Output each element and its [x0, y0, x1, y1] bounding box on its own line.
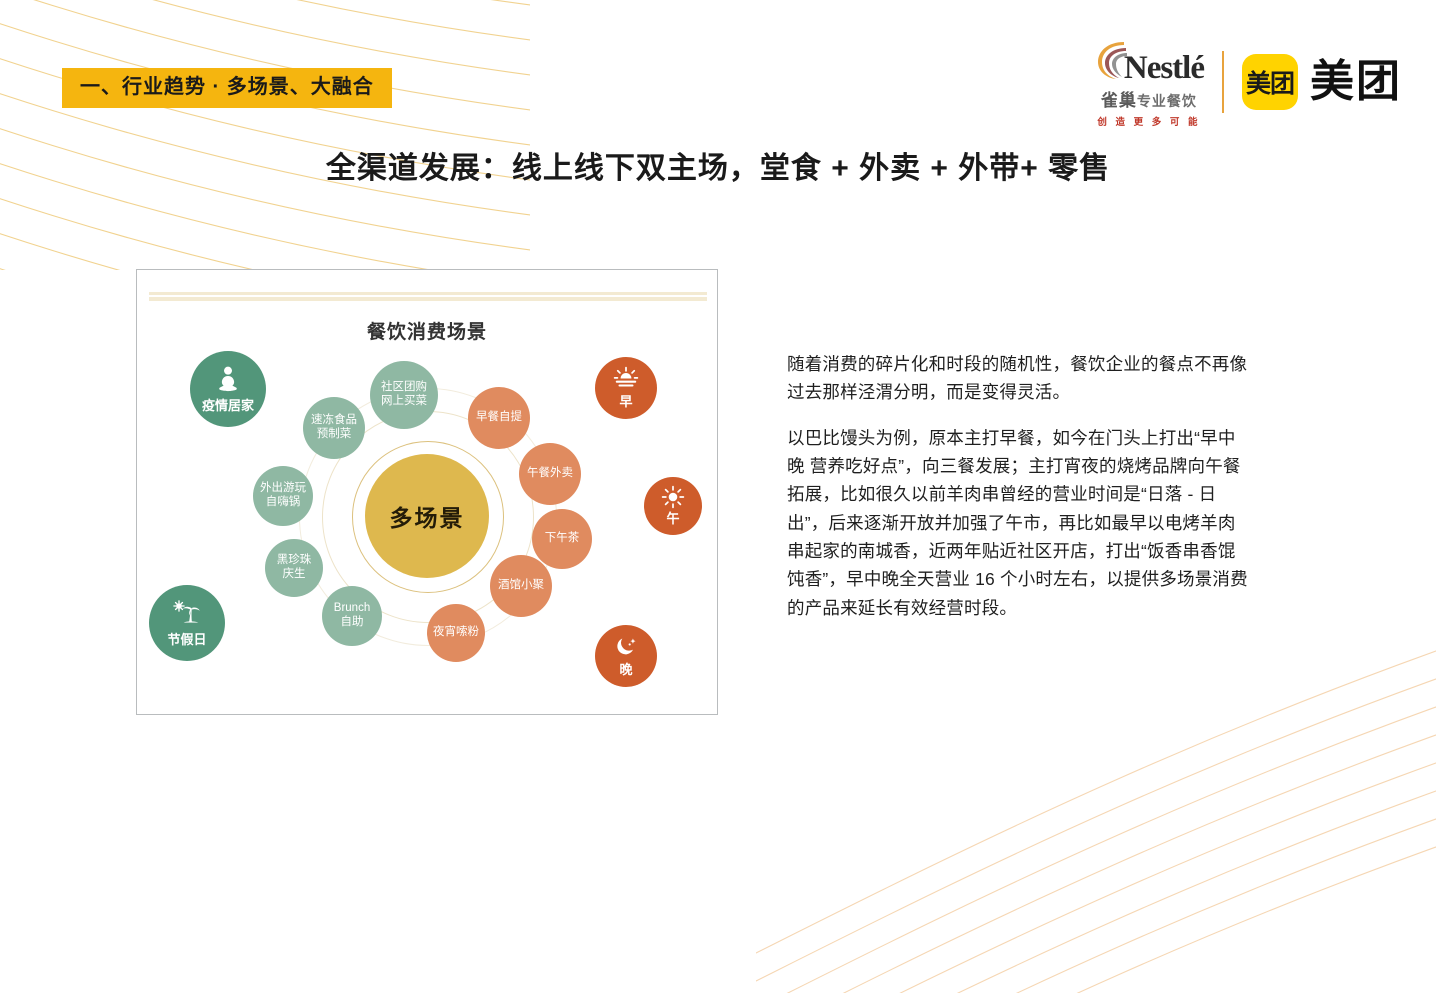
- meditation-icon: [212, 364, 244, 396]
- center-node-label: 多场景: [390, 499, 465, 533]
- diagram-node-6: 黑珍珠庆生: [265, 539, 323, 597]
- diagram-node-12: 夜宵嗦粉: [427, 604, 485, 662]
- diagram-node-3: 社区团购网上买菜: [370, 361, 438, 429]
- diagram-node-label: 晚: [619, 662, 632, 677]
- card-top-accent-bar: [149, 292, 707, 301]
- diagram-node-label: 夜宵嗦粉: [433, 626, 479, 640]
- sunrise-icon: [613, 366, 639, 392]
- diagram-node-label: 早餐自提: [476, 411, 522, 425]
- diagram-node-label: 速冻食品预制菜: [311, 414, 357, 441]
- meituan-wordmark: 美团: [1310, 60, 1402, 104]
- diagram-node-label: 下午茶: [545, 532, 580, 546]
- body-paragraph-2: 以巴比馒头为例，原本主打早餐，如今在门头上打出“早中晚 营养吃好点”，向三餐发展…: [787, 424, 1249, 622]
- center-node: 多场景: [365, 454, 489, 578]
- diagram-node-label: 外出游玩自嗨锅: [260, 482, 306, 509]
- body-paragraph-1: 随着消费的碎片化和时段的随机性，餐饮企业的餐点不再像过去那样泾渭分明，而是变得灵…: [787, 350, 1249, 407]
- logo-bar: Nestlé 雀巢专业餐饮 创 造 更 多 可 能 美团 美团: [1094, 36, 1402, 128]
- diagram-node-14: 午: [644, 477, 702, 535]
- diagram-node-label: 午餐外卖: [527, 467, 573, 481]
- diagram-node-7: Brunch自助: [322, 586, 382, 646]
- diagram-title: 餐饮消费场景: [137, 317, 717, 344]
- body-text: 随着消费的碎片化和时段的随机性，餐饮企业的餐点不再像过去那样泾渭分明，而是变得灵…: [787, 350, 1249, 622]
- diagram-node-10: 下午茶: [532, 509, 592, 569]
- nestle-cn-small: 专业餐饮: [1137, 93, 1197, 109]
- diagram-node-2: 节假日: [149, 585, 225, 661]
- diagram-node-9: 午餐外卖: [519, 443, 581, 505]
- diagram-node-label: 节假日: [167, 632, 206, 647]
- nestle-wordmark-row: Nestlé: [1094, 36, 1204, 84]
- meituan-badge-label: 美团: [1246, 64, 1294, 100]
- diagram-node-4: 速冻食品预制菜: [303, 397, 365, 459]
- diagram-node-15: 晚: [595, 625, 657, 687]
- section-tag: 一、行业趋势 · 多场景、大融合: [62, 68, 392, 108]
- diagram-node-label: 午: [666, 511, 679, 526]
- diagram-node-1: 疫情居家: [190, 351, 266, 427]
- nestle-cn-big: 雀巢: [1101, 91, 1137, 110]
- logo-divider: [1222, 51, 1224, 113]
- nestle-slogan: 创 造 更 多 可 能: [1097, 114, 1200, 128]
- diagram-node-5: 外出游玩自嗨锅: [253, 466, 313, 526]
- diagram-node-8: 早餐自提: [468, 387, 530, 449]
- nestle-chinese-name: 雀巢专业餐饮: [1101, 86, 1197, 111]
- meituan-badge-icon: 美团: [1242, 54, 1298, 110]
- meituan-logo: 美团 美团: [1242, 54, 1402, 110]
- nestle-logo: Nestlé 雀巢专业餐饮 创 造 更 多 可 能: [1094, 36, 1204, 128]
- diagram-node-11: 酒馆小聚: [490, 555, 552, 617]
- decorative-lines-top-left: [0, 0, 530, 270]
- palm-tree-icon: [171, 598, 203, 630]
- page-title: 全渠道发展：线上线下双主场，堂食 + 外卖 + 外带+ 零售: [0, 143, 1436, 187]
- sun-icon: [661, 485, 685, 509]
- diagram-node-13: 早: [595, 357, 657, 419]
- nestle-wordmark: Nestlé: [1124, 53, 1204, 84]
- diagram-node-label: 社区团购网上买菜: [381, 381, 427, 408]
- diagram-node-label: 酒馆小聚: [498, 579, 544, 593]
- diagram-node-label: 疫情居家: [202, 398, 254, 413]
- moon-stars-icon: [613, 634, 639, 660]
- diagram-node-label: 黑珍珠庆生: [277, 554, 312, 581]
- diagram-node-label: 早: [619, 394, 632, 409]
- diagram-node-label: Brunch自助: [334, 602, 370, 629]
